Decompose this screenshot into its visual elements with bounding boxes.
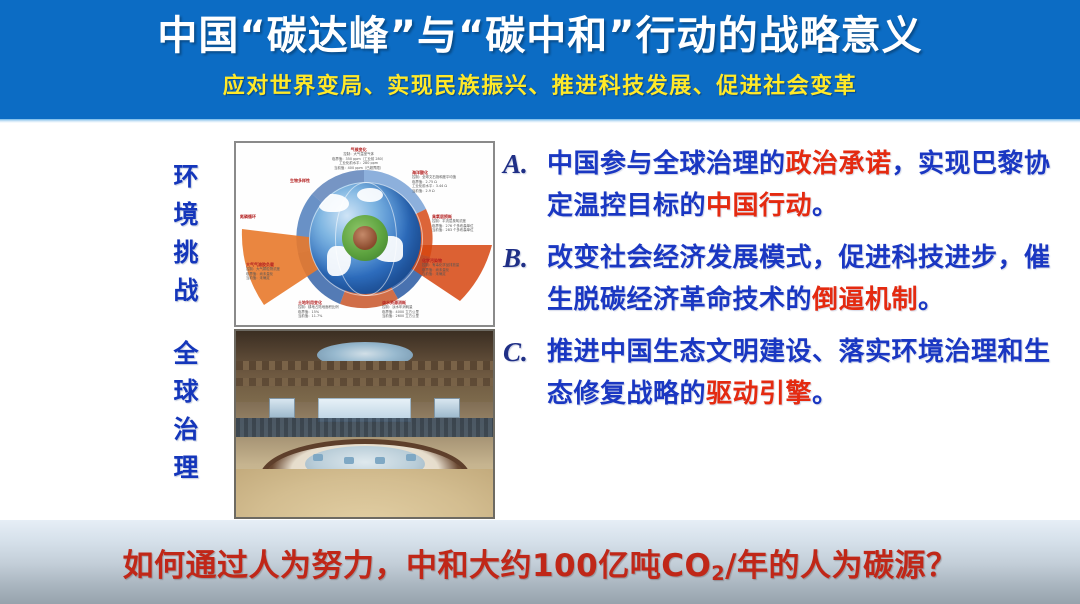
globe-label-aerosol-loading: 大气气溶胶负载控制：大气颗粒物浓度临界值：尚未量化当前值：未确定	[246, 263, 280, 281]
list-item-text-c: 推进中国生态文明建设、落实环境治理和生态修复战略的驱动引擎。	[547, 331, 1073, 415]
list-item: C. 推进中国生态文明建设、落实环境治理和生态修复战略的驱动引擎。	[503, 331, 1073, 415]
highlight-phrase: 倒逼机制	[812, 285, 918, 315]
globe-diagram-image: 气候变化控制：大气温室气体临界值：350 ppm（工业前 280）工业化前水平：…	[234, 141, 495, 327]
list-item-marker-a: A.	[503, 143, 547, 185]
list-item-marker-b: B.	[503, 237, 547, 279]
side-label-environment-challenge: 环 境 挑 战	[166, 158, 206, 310]
highlight-phrase: 中国行动	[706, 191, 812, 221]
side-label-governance-c2: 治	[166, 411, 206, 449]
list-item-text-a: 中国参与全球治理的政治承诺，实现巴黎协定温控目标的中国行动。	[547, 143, 1073, 227]
normal-phrase: 。	[918, 285, 945, 315]
globe-label-ozone-depletion: 臭氧层损耗控制：平流层臭氧浓度临界值：276 个多布森单位当前值：283 个多布…	[432, 215, 473, 233]
side-label-governance-c1: 球	[166, 373, 206, 411]
page-subtitle: 应对世界变局、实现民族振兴、推进科技发展、促进社会变革	[0, 72, 1080, 102]
side-label-challenge-c2: 挑	[166, 234, 206, 272]
side-label-governance-c3: 理	[166, 449, 206, 487]
hall-side-screen-left	[269, 398, 295, 418]
bottom-question-prefix: 如何通过人为努力，中和大约100亿吨CO	[122, 548, 711, 584]
globe-label-climate-change: 气候变化控制：大气温室气体临界值：350 ppm（工业前 280）工业化前水平：…	[332, 148, 385, 170]
page-title: 中国“碳达峰”与“碳中和”行动的战略意义	[0, 11, 1080, 61]
globe-label-ocean-acidification: 海洋酸化控制：全球文石饱和度平均值临界值：2.75 Ω工业化前水平：3.44 Ω…	[412, 171, 456, 193]
side-label-challenge-c3: 战	[166, 272, 206, 310]
strategic-significance-list: A. 中国参与全球治理的政治承诺，实现巴黎协定温控目标的中国行动。 B. 改变社…	[503, 143, 1073, 425]
normal-phrase: 中国参与全球治理的	[547, 149, 786, 179]
normal-phrase: 改变社会经济发展模式，促进科技进步，催生脱碳经济革命技术的	[547, 243, 1051, 315]
list-item-marker-c: C.	[503, 331, 547, 373]
bottom-question-banner: 如何通过人为努力，中和大约100亿吨CO2/年的人为碳源？	[0, 520, 1080, 604]
conference-hall-scene	[236, 331, 493, 517]
globe-label-chemical-pollution: 化学污染物控制：有毒化学品排放量临界值：尚未量化当前值：未确定	[422, 259, 459, 277]
normal-phrase: 。	[812, 379, 839, 409]
globe-label-biodiversity: 生物多样性	[290, 179, 310, 183]
hall-balcony-upper	[236, 361, 493, 370]
globe-diagram-canvas: 气候变化控制：大气温室气体临界值：350 ppm（工业前 280）工业化前水平：…	[236, 143, 493, 325]
side-label-challenge-c0: 环	[166, 158, 206, 196]
header-underline-divider	[0, 119, 1080, 123]
list-item: B. 改变社会经济发展模式，促进科技进步，催生脱碳经济革命技术的倒逼机制。	[503, 237, 1073, 321]
hall-audience-row	[236, 418, 493, 437]
list-item-text-b: 改变社会经济发展模式，促进科技进步，催生脱碳经济革命技术的倒逼机制。	[547, 237, 1073, 321]
bottom-question-suffix: /年的人为碳源？	[725, 548, 957, 584]
globe-label-land-use-change: 土地利用变化控制：耕地占陆地面积比例临界值：15%当前值：11.7%	[298, 301, 339, 319]
globe-label-nitrogen-cycle: 氮磷循环	[240, 215, 256, 219]
globe-inner-ring-brown	[353, 226, 377, 250]
globe-label-freshwater-use: 淡水资源消耗控制：淡水年消耗量临界值：4000 立方公里当前值：2600 立方公…	[382, 301, 419, 319]
highlight-phrase: 驱动引擎	[706, 379, 812, 409]
side-label-challenge-c1: 境	[166, 196, 206, 234]
bottom-question-text: 如何通过人为努力，中和大约100亿吨CO2/年的人为碳源？	[122, 540, 957, 585]
bottom-question-subscript: 2	[711, 562, 725, 585]
side-label-governance-c0: 全	[166, 335, 206, 373]
normal-phrase: 。	[812, 191, 839, 221]
hall-balcony-lower	[236, 378, 493, 386]
summit-conference-photo	[234, 329, 495, 519]
hall-carpet	[236, 469, 493, 517]
highlight-phrase: 政治承诺	[786, 149, 892, 179]
side-label-global-governance: 全 球 治 理	[166, 335, 206, 487]
hall-side-screen-right	[434, 398, 460, 418]
list-item: A. 中国参与全球治理的政治承诺，实现巴黎协定温控目标的中国行动。	[503, 143, 1073, 227]
